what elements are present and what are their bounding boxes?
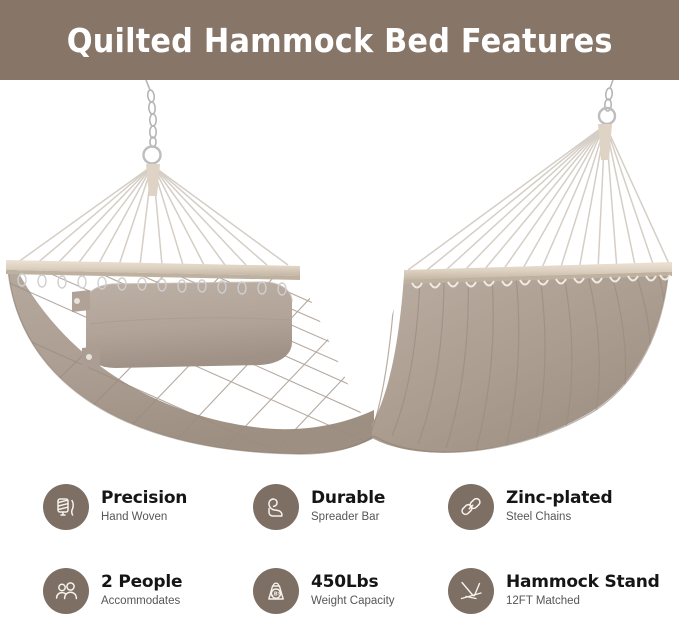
feature-item-450lbs[interactable]: LBS 450Lbs Weight Capacity <box>253 568 395 614</box>
feature-text: Precision Hand Woven <box>101 489 187 526</box>
feature-grid: Precision Hand Woven Durable Spreader Ba… <box>0 478 679 640</box>
hammock-illustration <box>0 80 679 470</box>
feature-item-zinc-plated[interactable]: Zinc-plated Steel Chains <box>448 484 612 530</box>
thread-spool-needle-icon <box>43 484 89 530</box>
feature-item-2-people[interactable]: 2 People Accommodates <box>43 568 182 614</box>
hammock-product-image <box>0 80 679 470</box>
feature-item-hammock-stand[interactable]: Hammock Stand 12FT Matched <box>448 568 660 614</box>
right-hanging-chain <box>599 80 615 124</box>
feature-text: Zinc-plated Steel Chains <box>506 489 612 526</box>
feature-text: 2 People Accommodates <box>101 573 182 610</box>
pillow-snap-top <box>74 298 80 304</box>
feature-title: Hammock Stand <box>506 573 660 592</box>
feature-text: Hammock Stand 12FT Matched <box>506 573 660 610</box>
chain-link-icon <box>448 484 494 530</box>
feature-title: 2 People <box>101 573 182 592</box>
feature-subtitle: Weight Capacity <box>311 594 395 610</box>
feature-text: 450Lbs Weight Capacity <box>311 573 395 610</box>
feature-subtitle: Accommodates <box>101 594 182 610</box>
feature-title: Durable <box>311 489 385 508</box>
feature-title: 450Lbs <box>311 573 395 592</box>
page-title: Quilted Hammock Bed Features <box>67 21 613 60</box>
feature-text: Durable Spreader Bar <box>311 489 385 526</box>
header-band: Quilted Hammock Bed Features <box>0 0 679 80</box>
left-cord-sleeve <box>146 164 160 196</box>
hammock-stand-icon <box>448 568 494 614</box>
flexed-bicep-icon <box>253 484 299 530</box>
feature-subtitle: 12FT Matched <box>506 594 660 610</box>
feature-subtitle: Hand Woven <box>101 510 187 526</box>
right-suspension-cords <box>408 126 670 270</box>
pillow-snap-bottom <box>86 354 92 360</box>
feature-item-precision[interactable]: Precision Hand Woven <box>43 484 187 530</box>
hammock-pillow <box>72 282 292 368</box>
feature-subtitle: Spreader Bar <box>311 510 385 526</box>
left-hanging-chain <box>144 80 161 164</box>
feature-row-2: 2 People Accommodates LBS 450Lbs Weight … <box>0 568 679 640</box>
feature-title: Zinc-plated <box>506 489 612 508</box>
feature-item-durable[interactable]: Durable Spreader Bar <box>253 484 385 530</box>
weight-lbs-icon: LBS <box>253 568 299 614</box>
feature-title: Precision <box>101 489 187 508</box>
feature-subtitle: Steel Chains <box>506 510 612 526</box>
feature-row-1: Precision Hand Woven Durable Spreader Ba… <box>0 484 679 556</box>
two-people-icon <box>43 568 89 614</box>
